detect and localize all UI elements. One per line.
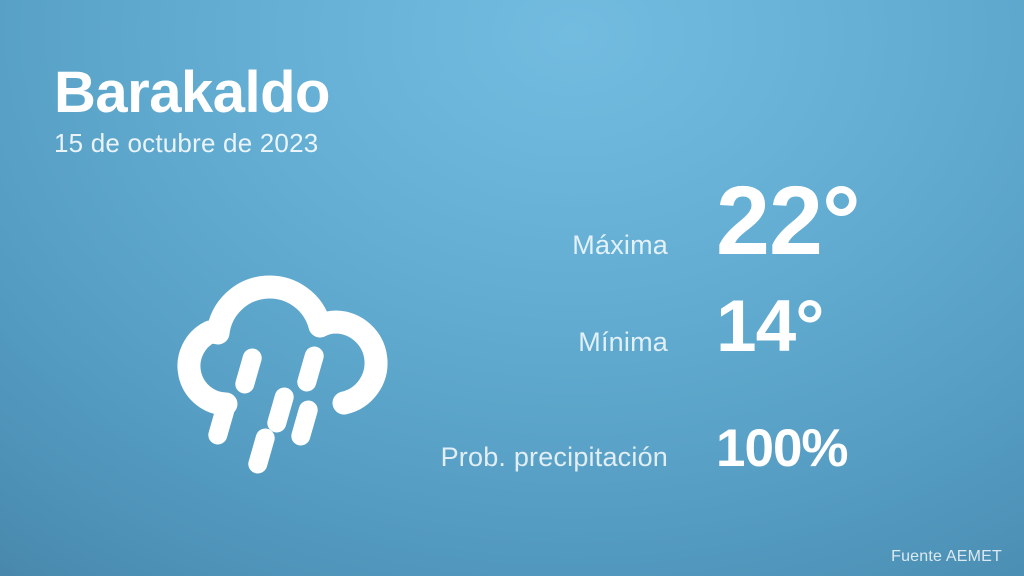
minima-value: 14° — [716, 290, 823, 363]
rain-drop — [265, 385, 296, 434]
reading-row-minima: Mínima 14° — [420, 290, 980, 422]
rain-cloud-icon-svg — [168, 248, 404, 478]
readings-panel: Máxima 22° Mínima 14° Prob. precipitació… — [420, 172, 980, 482]
minima-label: Mínima — [420, 327, 716, 358]
precipitation-label: Prob. precipitación — [420, 442, 716, 473]
rain-cloud-icon — [168, 248, 404, 478]
rain-drop — [295, 344, 326, 393]
forecast-date: 15 de octubre de 2023 — [54, 129, 330, 158]
reading-row-maxima: Máxima 22° — [420, 172, 980, 290]
reading-row-precipitation: Prob. precipitación 100% — [420, 422, 980, 482]
rain-drop — [233, 346, 264, 395]
rain-drop — [289, 398, 320, 447]
card-header: Barakaldo 15 de octubre de 2023 — [54, 62, 330, 158]
maxima-value: 22° — [716, 172, 860, 269]
rain-drop — [246, 426, 277, 475]
source-attribution: Fuente AEMET — [891, 548, 1002, 566]
maxima-label: Máxima — [420, 230, 716, 261]
rain-drops — [206, 344, 326, 475]
city-name: Barakaldo — [54, 62, 330, 123]
precipitation-value: 100% — [716, 422, 848, 475]
cloud-outline — [189, 287, 376, 404]
weather-card: Barakaldo 15 de octubre de 2023 Máxima 2… — [0, 0, 1024, 576]
